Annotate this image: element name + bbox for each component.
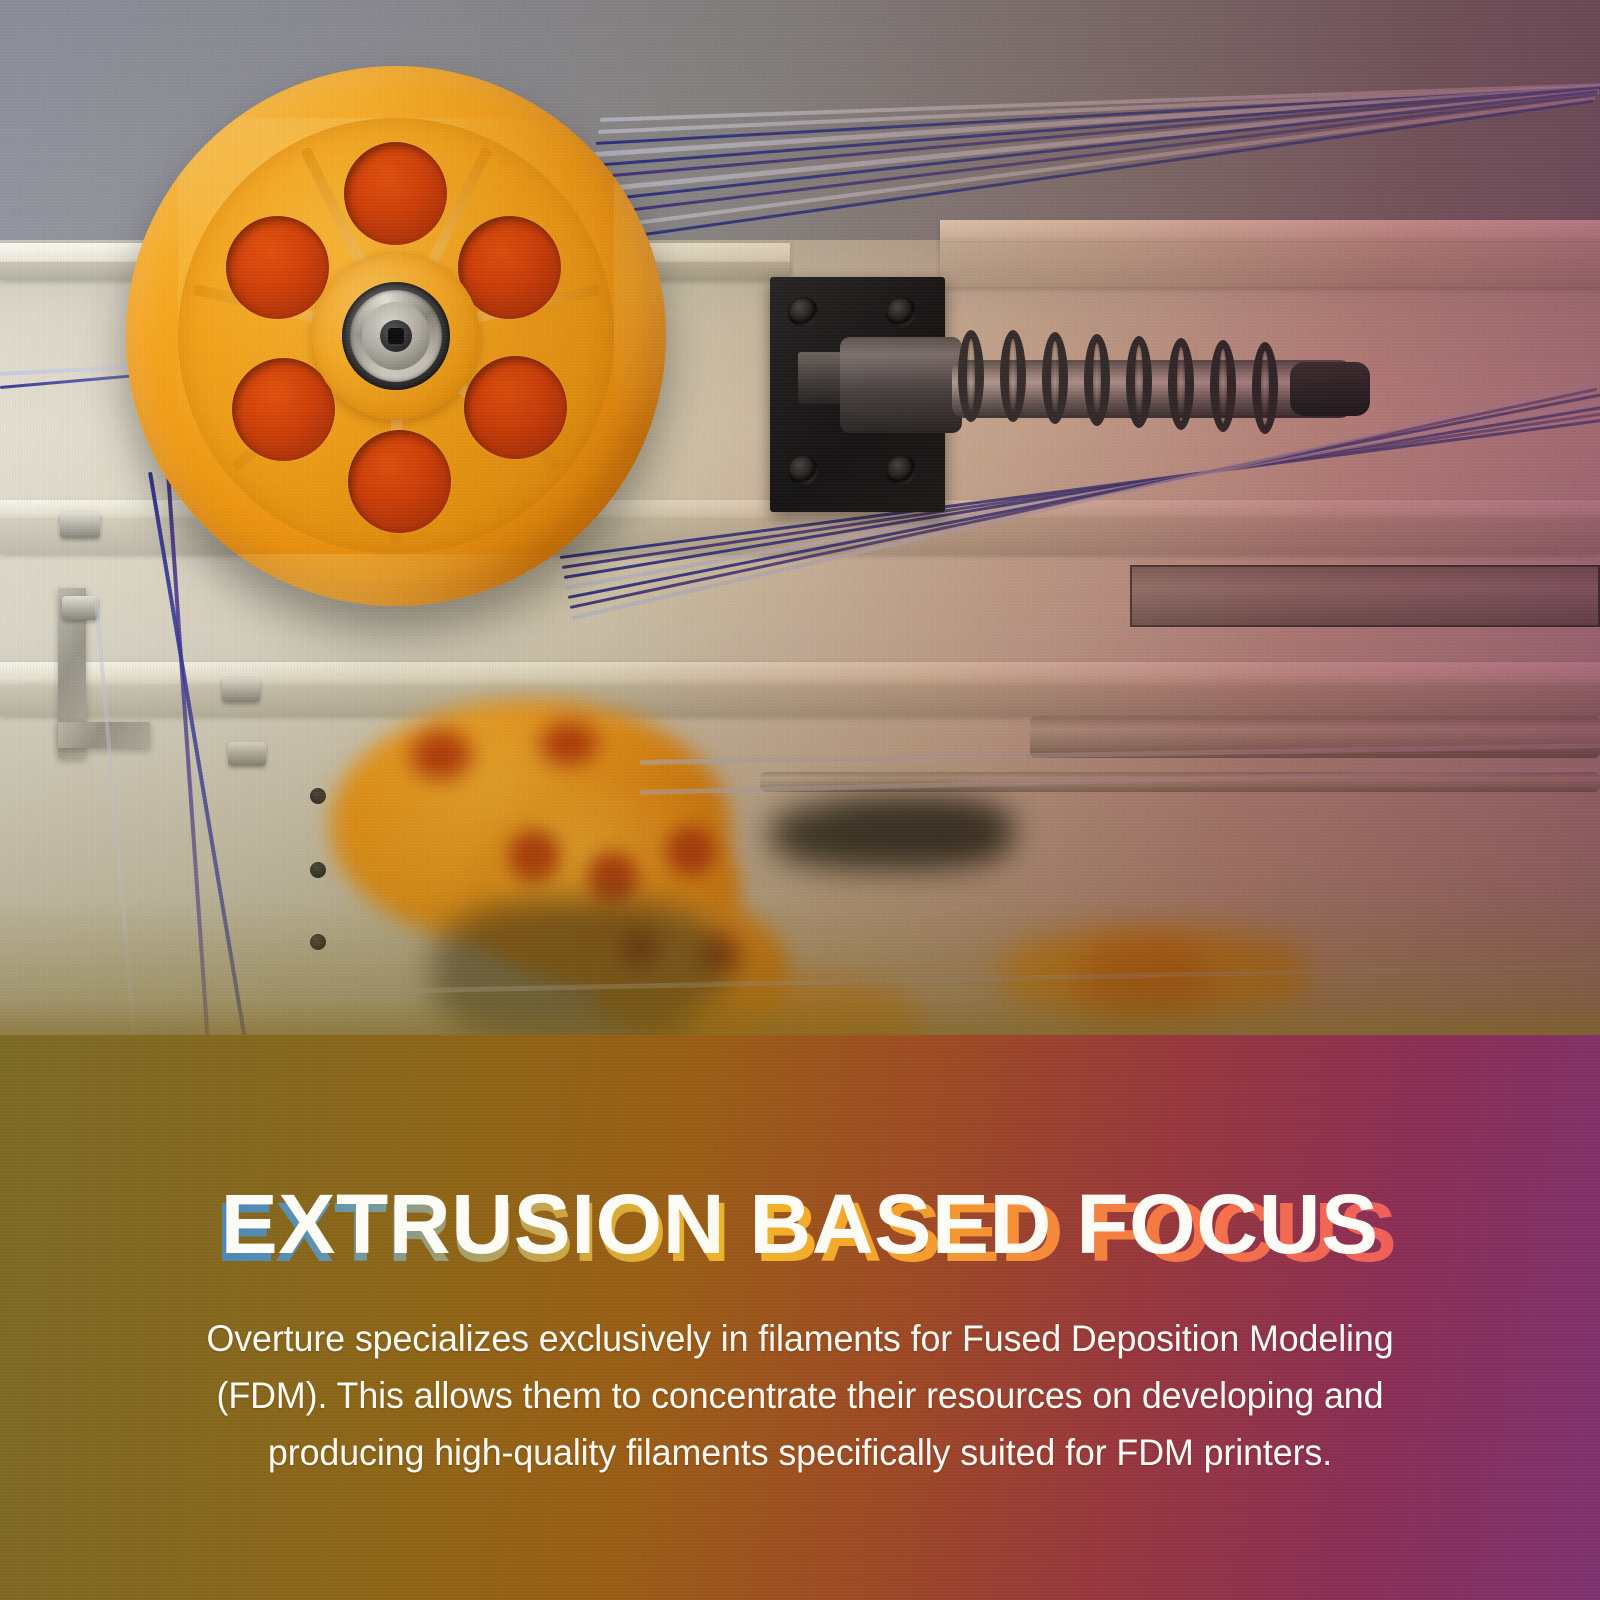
headline-text: EXTRUSION BASED FOCUS [221, 1177, 1379, 1271]
headline: EXTRUSION BASED FOCUS EXTRUSION BASED FO… [221, 1182, 1379, 1266]
caption-block: EXTRUSION BASED FOCUS EXTRUSION BASED FO… [0, 1182, 1600, 1481]
body-paragraph: Overture specializes exclusively in fila… [184, 1310, 1416, 1481]
promo-card: EXTRUSION BASED FOCUS EXTRUSION BASED FO… [0, 0, 1600, 1600]
